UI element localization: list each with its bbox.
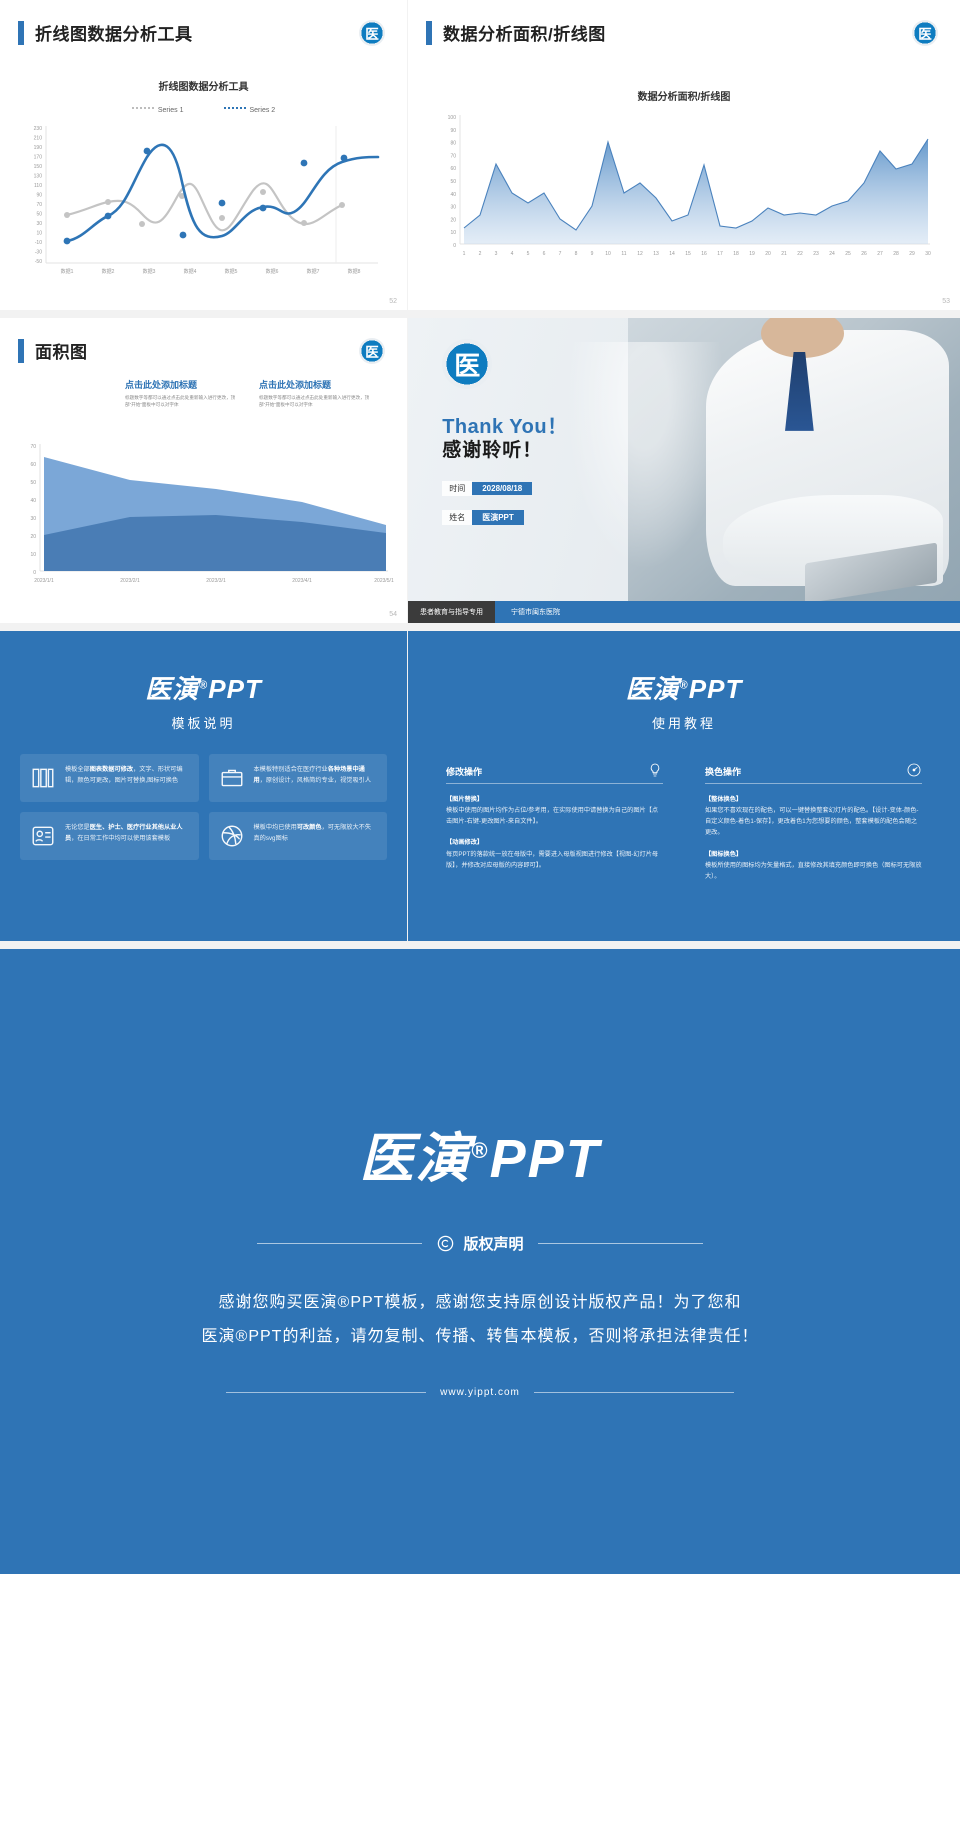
tutorial-columns: 修改操作 【图片替换】 模板中使用的图片均作为占位/参考用，在实际使用中请替换为… bbox=[438, 762, 930, 882]
chart-53-title: 数据分析面积/折线图 bbox=[408, 88, 960, 103]
svg-text:4: 4 bbox=[511, 251, 514, 257]
svg-text:110: 110 bbox=[34, 183, 42, 189]
svg-text:2023/2/1: 2023/2/1 bbox=[120, 578, 140, 584]
svg-text:50: 50 bbox=[36, 212, 42, 218]
chart-52-svg: 230210190 170150130 1109070 503010 -10-3… bbox=[22, 122, 382, 277]
slide-54-text-blocks: 点击此处添加标题 标题数字等都可以通过点击此处重新输入进行更改，顶部“开始”面板… bbox=[125, 378, 387, 409]
svg-text:30: 30 bbox=[36, 221, 42, 227]
header-accent-bar bbox=[18, 339, 24, 363]
copyright-url-row: www.yippt.com bbox=[0, 1387, 960, 1398]
svg-text:210: 210 bbox=[34, 136, 43, 142]
svg-text:150: 150 bbox=[34, 164, 43, 170]
slide-53-title: 数据分析面积/折线图 bbox=[443, 20, 606, 45]
text-block-1-body: 标题数字等都可以通过点击此处重新输入进行更改，顶部“开始”面板中可以对字体 bbox=[125, 395, 245, 409]
brand-logo-large: 医演®PPT bbox=[0, 1114, 960, 1193]
svg-text:40: 40 bbox=[450, 192, 456, 198]
row-separator bbox=[0, 623, 960, 631]
svg-text:190: 190 bbox=[34, 145, 43, 151]
svg-text:70: 70 bbox=[450, 153, 456, 159]
copyright-body: 感谢您购买医演®PPT模板，感谢您支持原创设计版权产品！为了您和 医演®PPT的… bbox=[0, 1286, 960, 1353]
svg-text:-30: -30 bbox=[35, 250, 42, 256]
dribbble-icon bbox=[219, 823, 245, 849]
page-footer-strip bbox=[0, 1574, 960, 1596]
medical-badge-icon bbox=[912, 20, 938, 46]
svg-text:2023/3/1: 2023/3/1 bbox=[206, 578, 226, 584]
slide-deck-page: 折线图数据分析工具 折线图数据分析工具 Series 1 Series 2 23… bbox=[0, 0, 960, 1596]
copyright-title: 版权声明 bbox=[463, 1233, 523, 1254]
footer-left-label: 患者教育与指导专用 bbox=[408, 601, 495, 623]
slide-row-2: 面积图 点击此处添加标题 标题数字等都可以通过点击此处重新输入进行更改，顶部“开… bbox=[0, 318, 960, 623]
svg-text:17: 17 bbox=[717, 251, 723, 257]
tutorial-col2-block2: 【图标换色】 模板所使用的图标均为矢量格式，直接修改其填充颜色即可换色（图标可无… bbox=[705, 849, 922, 882]
intro-card-2[interactable]: 本模板特别适合在医疗行业各种场景中通用，原创设计，风格简约专业，视觉吸引人 bbox=[209, 754, 388, 802]
field-name-value: 医演PPT bbox=[472, 510, 524, 525]
svg-text:19: 19 bbox=[749, 251, 755, 257]
tutorial-column-1: 修改操作 【图片替换】 模板中使用的图片均作为占位/参考用，在实际使用中请替换为… bbox=[438, 762, 671, 882]
rule-right-2 bbox=[534, 1392, 734, 1393]
tutorial-col1-head: 修改操作 bbox=[446, 762, 663, 784]
text-block-2-title: 点击此处添加标题 bbox=[259, 378, 379, 391]
box-icon bbox=[219, 765, 245, 791]
svg-text:2: 2 bbox=[479, 251, 482, 257]
field-date-value: 2028/08/18 bbox=[472, 482, 532, 495]
lightbulb-icon bbox=[647, 762, 663, 778]
tutorial-column-2: 换色操作 【整体换色】 如果您不喜欢现在的配色，可以一键替换整套幻灯片的配色。【… bbox=[697, 762, 930, 882]
copyright-line-2: 医演®PPT的利益，请勿复制、传播、转售本模板，否则将承担法律责任！ bbox=[0, 1320, 960, 1354]
chart-52-title: 折线图数据分析工具 bbox=[0, 78, 407, 93]
svg-text:28: 28 bbox=[893, 251, 899, 257]
text-block-1: 点击此处添加标题 标题数字等都可以通过点击此处重新输入进行更改，顶部“开始”面板… bbox=[125, 378, 245, 409]
tutorial-col2-block1: 【整体换色】 如果您不喜欢现在的配色，可以一键替换整套幻灯片的配色。【设计-变体… bbox=[705, 794, 922, 839]
svg-text:15: 15 bbox=[685, 251, 691, 257]
svg-text:7: 7 bbox=[559, 251, 562, 257]
svg-text:20: 20 bbox=[450, 217, 456, 223]
slide-54-number: 54 bbox=[389, 611, 397, 618]
svg-text:14: 14 bbox=[669, 251, 675, 257]
thank-you-footer-bar: 患者教育与指导专用 宁德市闽东医院 bbox=[408, 601, 960, 623]
slide-thank-you[interactable]: Thank You！ 感谢聆听！ 时间 2028/08/18 姓名 医演PPT … bbox=[408, 318, 960, 623]
svg-text:6: 6 bbox=[543, 251, 546, 257]
svg-text:230: 230 bbox=[34, 126, 43, 132]
brand-logo: 医演®PPT bbox=[0, 669, 407, 706]
svg-text:130: 130 bbox=[34, 174, 43, 180]
slide-template-intro[interactable]: 医演®PPT 模板说明 模板全部图表数据可修改，文字、形状可编辑，颜色可更改，图… bbox=[0, 631, 407, 941]
copyright-heading-row: 版权声明 bbox=[0, 1233, 960, 1254]
svg-text:26: 26 bbox=[861, 251, 867, 257]
svg-text:90: 90 bbox=[450, 128, 456, 134]
svg-text:2023/4/1: 2023/4/1 bbox=[292, 578, 312, 584]
slide-area-chart[interactable]: 面积图 点击此处添加标题 标题数字等都可以通过点击此处重新输入进行更改，顶部“开… bbox=[0, 318, 407, 623]
copyright-heading: 版权声明 bbox=[436, 1233, 523, 1254]
text-block-2-body: 标题数字等都可以通过点击此处重新输入进行更改，顶部“开始”面板中可以对字体 bbox=[259, 395, 379, 409]
thank-you-english: Thank You！ bbox=[442, 410, 567, 439]
slide-52-title: 折线图数据分析工具 bbox=[35, 20, 193, 45]
svg-text:-10: -10 bbox=[35, 240, 42, 246]
svg-text:22: 22 bbox=[797, 251, 803, 257]
svg-text:60: 60 bbox=[450, 166, 456, 172]
row-separator bbox=[0, 941, 960, 949]
rule-left-2 bbox=[226, 1392, 426, 1393]
svg-text:50: 50 bbox=[30, 480, 36, 486]
slide-row-1: 折线图数据分析工具 折线图数据分析工具 Series 1 Series 2 23… bbox=[0, 0, 960, 310]
text-block-1-title: 点击此处添加标题 bbox=[125, 378, 245, 391]
slide-52-number: 52 bbox=[389, 298, 397, 305]
layers-icon bbox=[30, 765, 56, 791]
svg-text:-50: -50 bbox=[35, 259, 42, 265]
rule-right bbox=[538, 1243, 703, 1244]
svg-text:1: 1 bbox=[463, 251, 466, 257]
svg-text:数据2: 数据2 bbox=[102, 268, 115, 275]
copyright-line-1: 感谢您购买医演®PPT模板，感谢您支持原创设计版权产品！为了您和 bbox=[0, 1286, 960, 1320]
svg-text:24: 24 bbox=[829, 251, 835, 257]
svg-text:10: 10 bbox=[30, 552, 36, 558]
legend-item-series2: Series 2 bbox=[224, 107, 276, 114]
intro-card-3-text: 无论您是医生、护士、医疗行业其他从业人员，在日常工作中均可以使用该套模板 bbox=[65, 823, 189, 849]
field-name: 姓名 医演PPT bbox=[442, 510, 524, 525]
medical-badge-icon bbox=[359, 20, 385, 46]
intro-card-4-text: 模板中均已使用可改颜色，可无限放大不失真的svg图标 bbox=[254, 823, 378, 849]
slide-line-chart-tool[interactable]: 折线图数据分析工具 折线图数据分析工具 Series 1 Series 2 23… bbox=[0, 0, 407, 310]
intro-subtitle: 模板说明 bbox=[0, 713, 407, 732]
svg-text:11: 11 bbox=[621, 251, 626, 257]
header-accent-bar bbox=[426, 21, 432, 45]
field-name-label: 姓名 bbox=[442, 510, 472, 525]
rule-left bbox=[257, 1243, 422, 1244]
svg-text:70: 70 bbox=[36, 202, 42, 208]
medical-badge-icon bbox=[442, 339, 492, 389]
svg-text:80: 80 bbox=[450, 141, 456, 147]
tutorial-col2-title: 换色操作 bbox=[705, 765, 741, 778]
svg-text:30: 30 bbox=[450, 205, 456, 211]
svg-text:30: 30 bbox=[925, 251, 931, 257]
row-separator bbox=[0, 310, 960, 318]
svg-text:29: 29 bbox=[909, 251, 915, 257]
svg-text:170: 170 bbox=[34, 155, 43, 161]
svg-text:9: 9 bbox=[591, 251, 594, 257]
slide-53-number: 53 bbox=[942, 298, 950, 305]
svg-text:数据6: 数据6 bbox=[266, 268, 279, 275]
tutorial-col1-title: 修改操作 bbox=[446, 765, 482, 778]
tutorial-subtitle: 使用教程 bbox=[408, 713, 960, 732]
slide-area-line-chart[interactable]: 数据分析面积/折线图 数据分析面积/折线图 1009080 706050 403… bbox=[408, 0, 960, 310]
svg-text:20: 20 bbox=[30, 534, 36, 540]
slide-53-header: 数据分析面积/折线图 bbox=[426, 20, 606, 45]
svg-text:3: 3 bbox=[495, 251, 498, 257]
medical-badge-icon bbox=[359, 338, 385, 364]
svg-text:数据4: 数据4 bbox=[184, 268, 197, 275]
tutorial-col2-head: 换色操作 bbox=[705, 762, 922, 784]
chart-53-svg: 1009080 706050 403020 100 123 456 789 10… bbox=[434, 111, 934, 276]
slide-row-3: 医演®PPT 模板说明 模板全部图表数据可修改，文字、形状可编辑，颜色可更改，图… bbox=[0, 631, 960, 941]
legend-item-series1: Series 1 bbox=[132, 107, 184, 114]
svg-text:2023/1/1: 2023/1/1 bbox=[34, 578, 54, 584]
intro-card-4[interactable]: 模板中均已使用可改颜色，可无限放大不失真的svg图标 bbox=[209, 812, 388, 860]
tutorial-col1-block2: 【动画修改】 每页PPT的落款统一放在母版中，需要进入母版视图进行修改【视图-幻… bbox=[446, 837, 663, 870]
tutorial-col1-block1: 【图片替换】 模板中使用的图片均作为占位/参考用，在实际使用中请替换为自己的图片… bbox=[446, 794, 663, 827]
slide-54-header: 面积图 bbox=[18, 338, 88, 363]
svg-text:12: 12 bbox=[637, 251, 643, 257]
svg-text:27: 27 bbox=[877, 251, 883, 257]
svg-text:20: 20 bbox=[765, 251, 771, 257]
slide-copyright[interactable]: 医演®PPT 版权声明 感谢您购买医演®PPT模板，感谢您支持原创设计版权产品！… bbox=[0, 949, 960, 1574]
thank-you-chinese: 感谢聆听！ bbox=[442, 435, 542, 462]
text-block-2: 点击此处添加标题 标题数字等都可以通过点击此处重新输入进行更改，顶部“开始”面板… bbox=[259, 378, 379, 409]
svg-text:40: 40 bbox=[30, 498, 36, 504]
svg-text:30: 30 bbox=[30, 516, 36, 522]
user-badge-icon bbox=[30, 823, 56, 849]
svg-text:23: 23 bbox=[813, 251, 819, 257]
intro-card-1-text: 模板全部图表数据可修改，文字、形状可编辑，颜色可更改，图片可替换,图标可换色 bbox=[65, 765, 189, 791]
svg-text:50: 50 bbox=[450, 179, 456, 185]
svg-text:数据5: 数据5 bbox=[225, 268, 238, 275]
intro-card-1[interactable]: 模板全部图表数据可修改，文字、形状可编辑，颜色可更改，图片可替换,图标可换色 bbox=[20, 754, 199, 802]
field-date: 时间 2028/08/18 bbox=[442, 481, 532, 496]
svg-text:0: 0 bbox=[33, 570, 36, 576]
svg-text:10: 10 bbox=[450, 230, 456, 236]
svg-text:数据3: 数据3 bbox=[143, 268, 156, 275]
svg-text:数据7: 数据7 bbox=[307, 268, 320, 275]
intro-cards: 模板全部图表数据可修改，文字、形状可编辑，颜色可更改，图片可替换,图标可换色 本… bbox=[20, 754, 387, 860]
footer-right-label: 宁德市闽东医院 bbox=[495, 601, 960, 623]
svg-text:2023/5/1: 2023/5/1 bbox=[374, 578, 394, 584]
svg-text:0: 0 bbox=[453, 243, 456, 249]
slide-tutorial[interactable]: 医演®PPT 使用教程 修改操作 【图片替换】 模板中使用的图片均作为占位/参考… bbox=[408, 631, 960, 941]
palette-icon bbox=[906, 762, 922, 778]
field-date-label: 时间 bbox=[442, 481, 472, 496]
svg-text:90: 90 bbox=[36, 193, 42, 199]
svg-text:100: 100 bbox=[448, 115, 457, 121]
svg-text:5: 5 bbox=[527, 251, 530, 257]
svg-text:70: 70 bbox=[30, 444, 36, 450]
svg-text:数据1: 数据1 bbox=[61, 268, 74, 275]
brand-logo: 医演®PPT bbox=[408, 669, 960, 706]
slide-54-title: 面积图 bbox=[35, 338, 88, 363]
copyright-icon bbox=[436, 1234, 455, 1253]
svg-text:10: 10 bbox=[36, 231, 42, 237]
svg-text:60: 60 bbox=[30, 462, 36, 468]
intro-card-2-text: 本模板特别适合在医疗行业各种场景中通用，原创设计，风格简约专业，视觉吸引人 bbox=[254, 765, 378, 791]
svg-text:25: 25 bbox=[845, 251, 851, 257]
svg-text:数据8: 数据8 bbox=[348, 268, 361, 275]
svg-text:10: 10 bbox=[605, 251, 611, 257]
copyright-url[interactable]: www.yippt.com bbox=[440, 1387, 520, 1398]
slide-52-header: 折线图数据分析工具 bbox=[18, 20, 193, 45]
chart-54-svg: 706050 403020 100 2023/1/1 2023/2/1 2023… bbox=[8, 440, 398, 600]
svg-text:13: 13 bbox=[653, 251, 659, 257]
svg-text:18: 18 bbox=[733, 251, 739, 257]
chart-52-legend: Series 1 Series 2 bbox=[0, 107, 407, 114]
svg-text:16: 16 bbox=[701, 251, 707, 257]
svg-text:21: 21 bbox=[781, 251, 787, 257]
svg-text:8: 8 bbox=[575, 251, 578, 257]
intro-card-3[interactable]: 无论您是医生、护士、医疗行业其他从业人员，在日常工作中均可以使用该套模板 bbox=[20, 812, 199, 860]
header-accent-bar bbox=[18, 21, 24, 45]
